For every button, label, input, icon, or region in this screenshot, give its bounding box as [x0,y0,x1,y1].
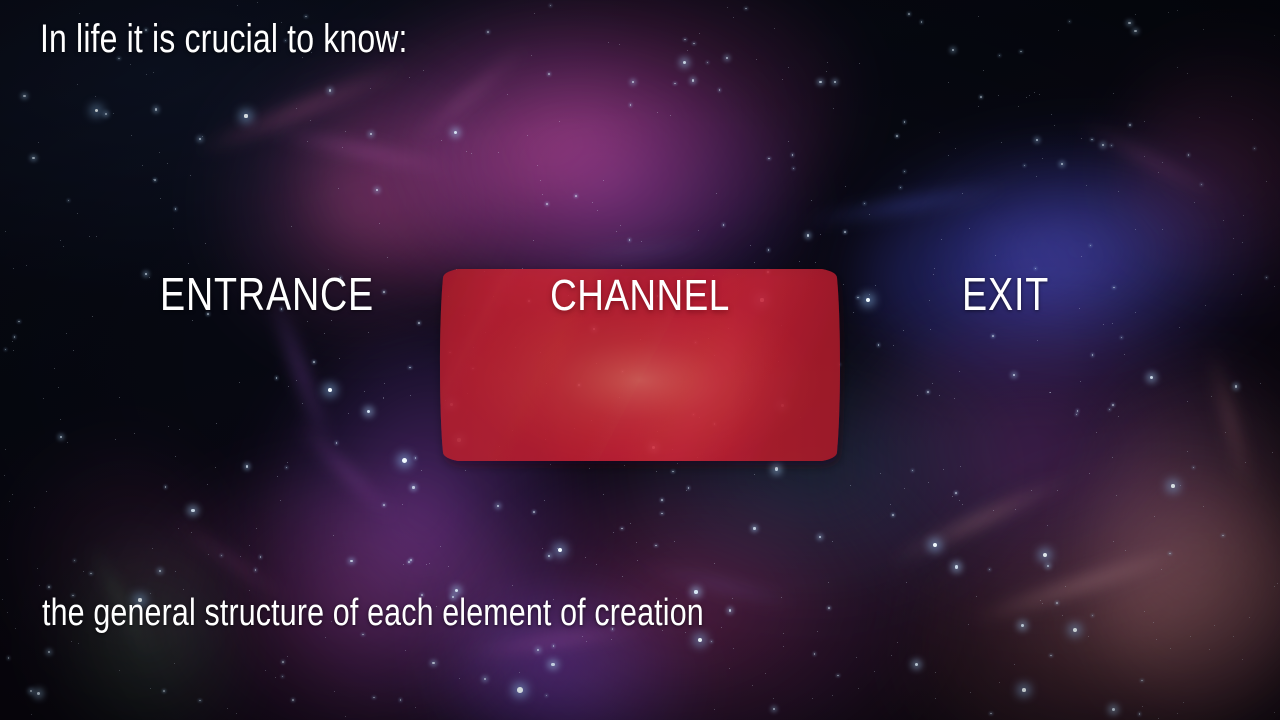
diagram-label-entrance: ENTRANCE [160,268,374,320]
presentation-slide: In life it is crucial to know: ENTRANCE [0,0,1280,720]
page-caption: the general structure of each element of… [42,592,704,634]
diagram-label-exit: EXIT [962,268,1049,320]
channel-label-text: CHANNEL [550,271,730,321]
page-title: In life it is crucial to know: [40,17,408,61]
diagram-label-channel: CHANNEL [440,271,840,321]
